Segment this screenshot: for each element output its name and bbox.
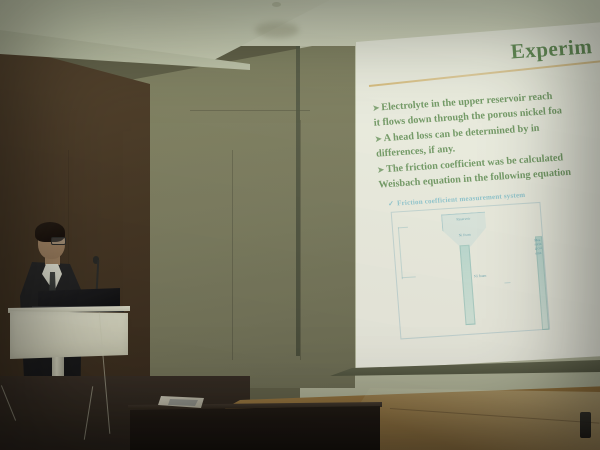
- slide-title-rule: [369, 59, 600, 88]
- front-table-skirt: [130, 406, 380, 450]
- presentation-photo: Experim Electrolyte in the upper reservo…: [0, 0, 600, 450]
- wall-seam-a: [232, 150, 233, 360]
- papers-shadow: [168, 399, 198, 406]
- wall-middle: [130, 38, 355, 388]
- figure-label-flow: Ni foam: [474, 274, 487, 279]
- wall-seam-c: [190, 110, 310, 111]
- ceiling-fixture-icon: [272, 2, 281, 7]
- figure-label-column: Measuring column: [534, 238, 542, 255]
- ceiling-stain: [255, 22, 299, 38]
- glasses-icon: [51, 237, 66, 245]
- slide-title: Experim: [510, 34, 593, 64]
- bottle-icon: [580, 412, 591, 438]
- wall-seam-b: [300, 120, 301, 360]
- projection-screen: Experim Electrolyte in the upper reservo…: [352, 22, 600, 370]
- pillar-edge: [296, 26, 300, 356]
- podium-front-panel: [10, 311, 128, 359]
- slide-surface: Experim Electrolyte in the upper reservo…: [352, 5, 600, 369]
- slide-bullet-list: Electrolyte in the upper reservoir reach…: [372, 85, 600, 193]
